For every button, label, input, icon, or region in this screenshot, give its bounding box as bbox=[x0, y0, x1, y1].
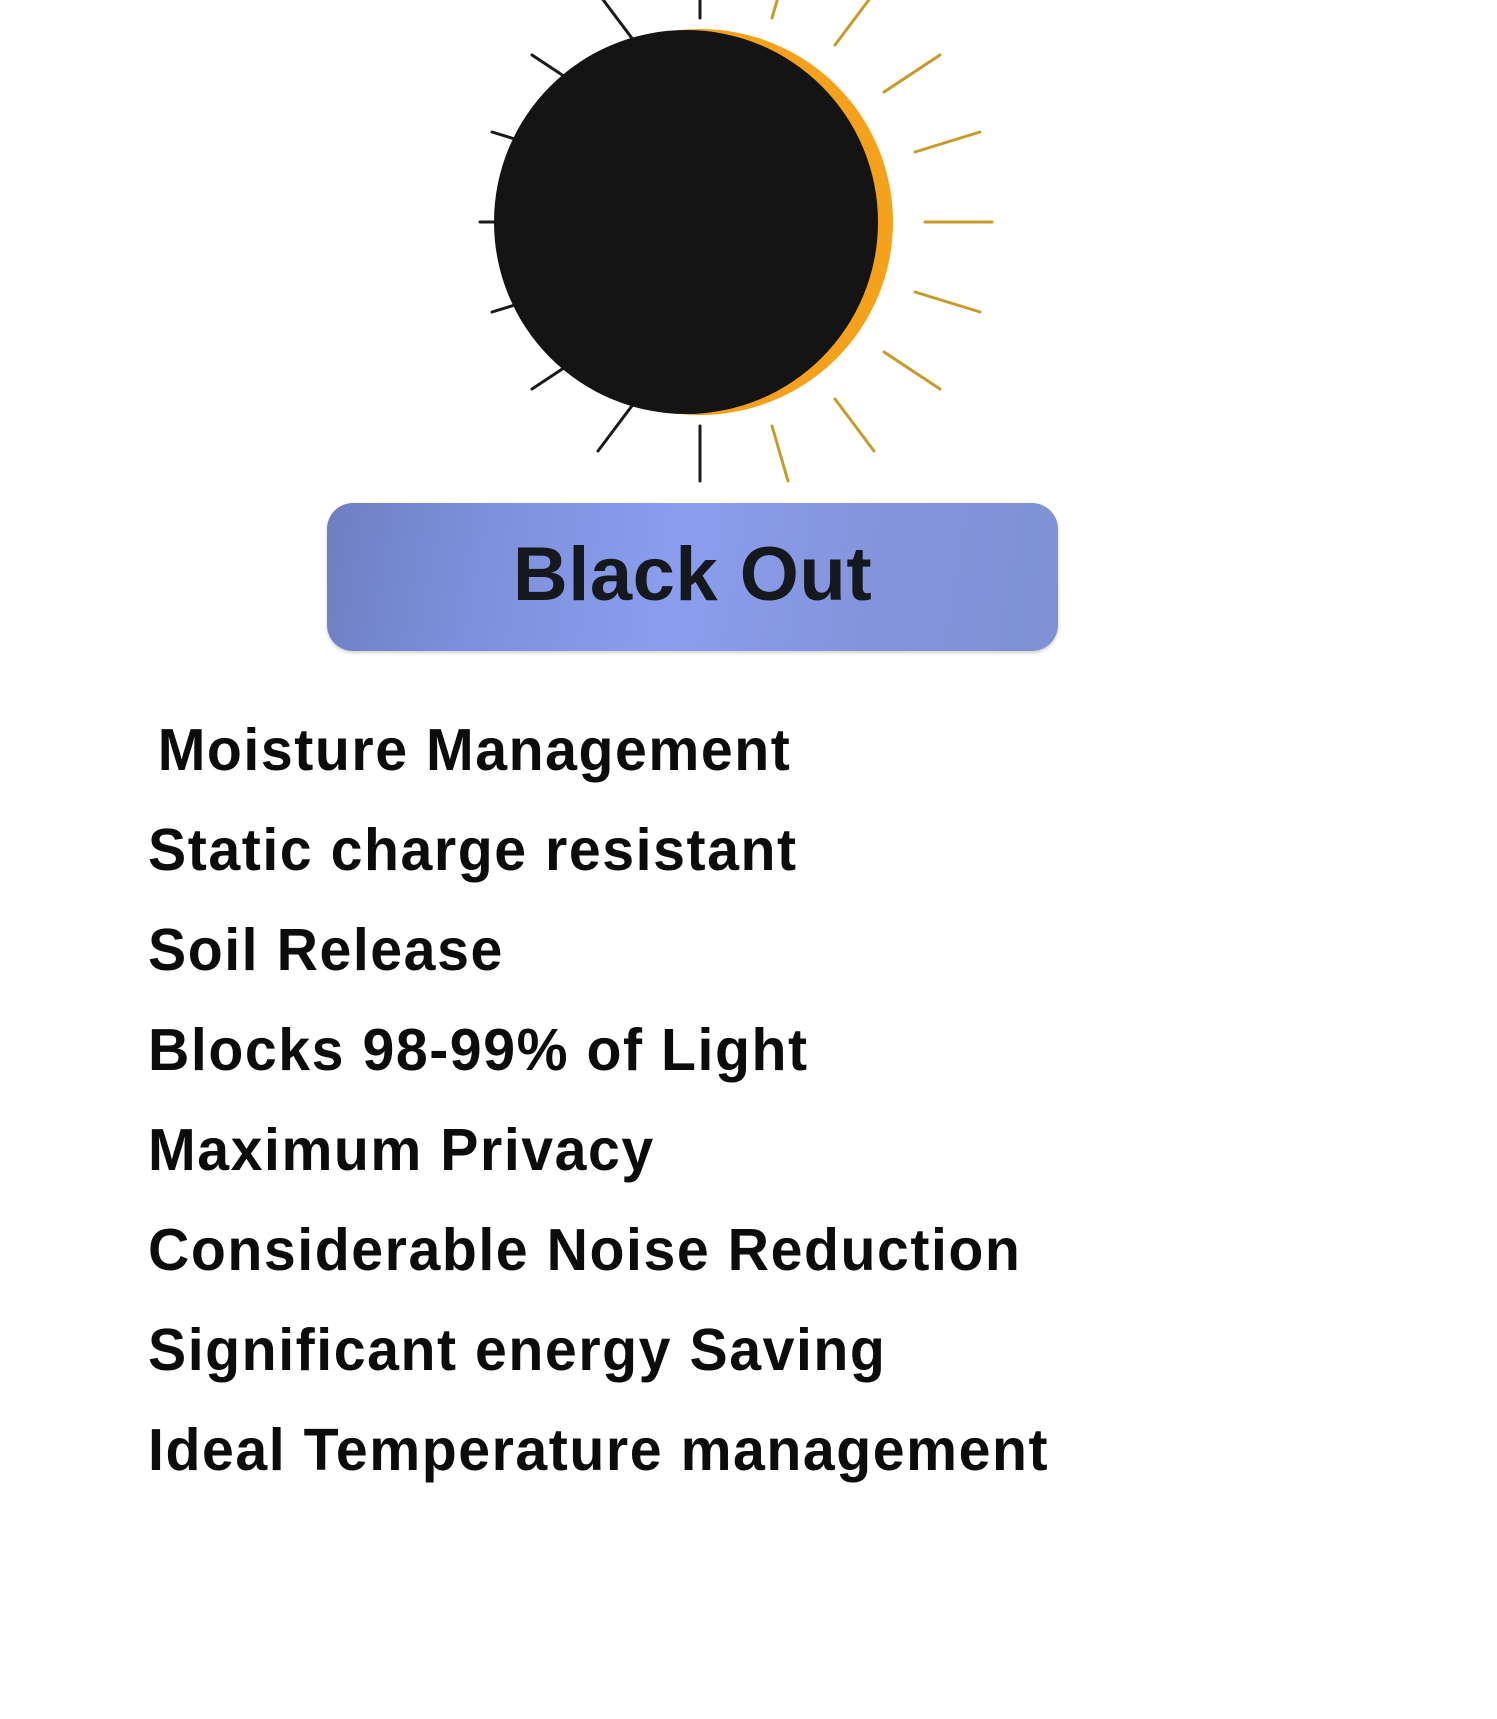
eclipse-disc bbox=[494, 30, 878, 414]
feature-list-item: Considerable Noise Reduction bbox=[148, 1200, 1457, 1300]
black-out-badge-container: Black Out bbox=[0, 503, 1497, 655]
black-out-badge-label: Black Out bbox=[513, 537, 872, 613]
feature-list-item: Blocks 98-99% of Light bbox=[148, 1000, 1457, 1100]
feature-list: Moisture Management Static charge resist… bbox=[0, 700, 1497, 1500]
feature-list-item: Ideal Temperature management bbox=[148, 1400, 1457, 1500]
feature-list-item: Moisture Management bbox=[148, 700, 1457, 800]
feature-list-item: Maximum Privacy bbox=[148, 1100, 1457, 1200]
feature-list-item: Static charge resistant bbox=[148, 800, 1457, 900]
black-out-badge[interactable]: Black Out bbox=[327, 503, 1058, 651]
product-feature-card: Black Out Moisture Management Static cha… bbox=[0, 0, 1497, 1719]
eclipse-sun-graphic bbox=[0, 0, 1497, 520]
feature-list-item: Soil Release bbox=[148, 900, 1457, 1000]
feature-list-item: Significant energy Saving bbox=[148, 1300, 1457, 1400]
